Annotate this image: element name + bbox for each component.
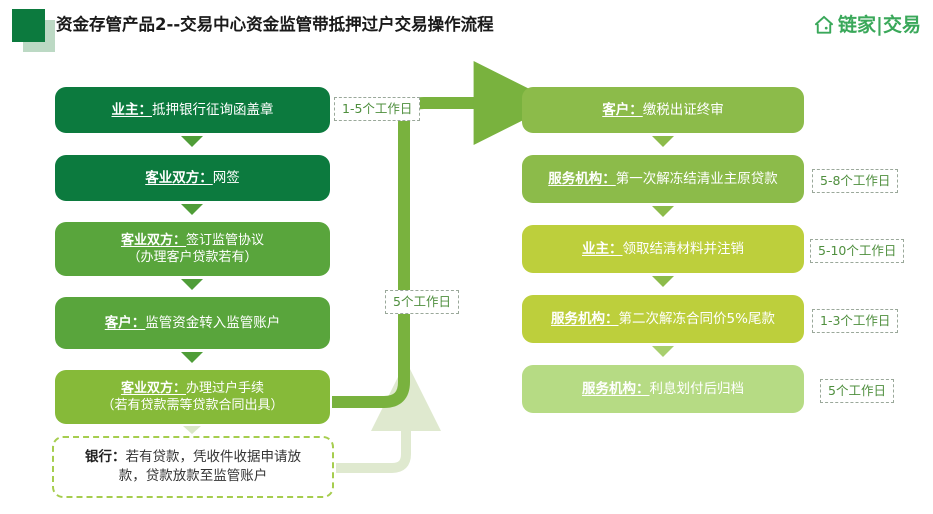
node-right-4-role: 服务机构：: [551, 311, 619, 327]
note-box-desc: 若有贷款，凭收件收据申请放: [126, 449, 302, 465]
note-box-bank[interactable]: 银行：若有贷款，凭收件收据申请放 款，贷款放款至监管账户: [52, 436, 334, 498]
node-right-2-line1: 服务机构：第一次解冻结清业主原贷款: [548, 171, 778, 188]
ghost-return-arrow: [336, 406, 406, 468]
node-left-4-role: 客户：: [105, 315, 146, 331]
brand-logo: 链家|交易: [813, 12, 921, 38]
node-right-1-desc: 缴税出证终审: [643, 102, 724, 118]
node-left-3-desc: 签订监管协议: [186, 233, 264, 248]
arrow-right-4-to-5: [652, 346, 674, 357]
house-icon: [813, 14, 835, 36]
arrow-left-3-to-4: [181, 279, 203, 290]
node-right-3-desc: 领取结清材料并注销: [623, 241, 745, 257]
node-right-5-role: 服务机构：: [582, 381, 650, 397]
node-right-4[interactable]: 服务机构：第二次解冻合同价5%尾款: [522, 295, 804, 343]
duration-tag-6: 5个工作日: [820, 379, 894, 403]
node-right-4-desc: 第二次解冻合同价5%尾款: [619, 311, 775, 327]
note-box-role: 银行：: [85, 449, 126, 465]
node-left-1[interactable]: 业主：抵押银行征询函盖章: [55, 87, 330, 133]
node-left-1-desc: 抵押银行征询函盖章: [152, 102, 274, 118]
node-right-5-desc: 利息划付后归档: [650, 381, 745, 397]
node-right-5[interactable]: 服务机构：利息划付后归档: [522, 365, 804, 413]
node-left-3-line2: （办理客户贷款若有）: [127, 249, 257, 266]
arrow-left-5-to-note: [183, 426, 201, 434]
node-left-5-role: 客业双方：: [121, 381, 186, 396]
node-right-2-desc: 第一次解冻结清业主原贷款: [616, 171, 778, 187]
node-left-2-line1: 客业双方：网签: [145, 170, 240, 187]
node-left-2[interactable]: 客业双方：网签: [55, 155, 330, 201]
arrow-left-1-to-2: [181, 136, 203, 147]
left-to-right-connector: [332, 103, 500, 402]
arrow-right-2-to-3: [652, 206, 674, 217]
arrow-right-3-to-4: [652, 276, 674, 287]
node-left-1-line1: 业主：抵押银行征询函盖章: [112, 102, 274, 119]
note-box-line1: 银行：若有贷款，凭收件收据申请放: [85, 448, 301, 467]
arrow-right-1-to-2: [652, 136, 674, 147]
duration-tag-4: 5-10个工作日: [810, 239, 904, 263]
page-title: 资金存管产品2--交易中心资金监管带抵押过户交易操作流程: [56, 13, 494, 37]
header-decor-square-front: [12, 9, 45, 42]
flowchart-canvas: 业主：抵押银行征询函盖章 客业双方：网签 客业双方：签订监管协议 （办理客户贷款…: [0, 57, 933, 514]
node-left-5[interactable]: 客业双方：办理过户手续 （若有贷款需等贷款合同出具）: [55, 370, 330, 424]
node-right-1[interactable]: 客户：缴税出证终审: [522, 87, 804, 133]
arrow-left-4-to-5: [181, 352, 203, 363]
node-left-5-line2: （若有贷款需等贷款合同出具）: [101, 397, 283, 414]
node-right-2[interactable]: 服务机构：第一次解冻结清业主原贷款: [522, 155, 804, 203]
node-left-2-role: 客业双方：: [145, 170, 213, 186]
node-left-4[interactable]: 客户：监管资金转入监管账户: [55, 297, 330, 349]
node-left-2-desc: 网签: [213, 170, 240, 186]
page-header: 资金存管产品2--交易中心资金监管带抵押过户交易操作流程 链家|交易: [0, 0, 933, 57]
node-left-3-line1: 客业双方：签订监管协议: [121, 232, 264, 249]
node-right-3-line1: 业主：领取结清材料并注销: [582, 241, 744, 258]
note-box-line2: 款，贷款放款至监管账户: [119, 467, 268, 486]
node-right-2-role: 服务机构：: [548, 171, 616, 187]
node-left-5-line1: 客业双方：办理过户手续: [121, 380, 264, 397]
node-right-5-line1: 服务机构：利息划付后归档: [582, 381, 744, 398]
node-left-1-role: 业主：: [112, 102, 153, 118]
brand-logo-text: 链家|交易: [838, 14, 921, 36]
node-right-3[interactable]: 业主：领取结清材料并注销: [522, 225, 804, 273]
node-left-4-line1: 客户：监管资金转入监管账户: [105, 315, 281, 332]
node-left-5-desc: 办理过户手续: [186, 381, 264, 396]
node-right-3-role: 业主：: [582, 241, 623, 257]
duration-tag-5: 1-3个工作日: [812, 309, 898, 333]
arrow-left-2-to-3: [181, 204, 203, 215]
node-right-1-role: 客户：: [602, 102, 643, 118]
node-left-3[interactable]: 客业双方：签订监管协议 （办理客户贷款若有）: [55, 222, 330, 276]
duration-tag-3: 5-8个工作日: [812, 169, 898, 193]
node-right-4-line1: 服务机构：第二次解冻合同价5%尾款: [551, 311, 775, 328]
node-left-3-role: 客业双方：: [121, 233, 186, 248]
node-right-1-line1: 客户：缴税出证终审: [602, 102, 724, 119]
duration-tag-2: 5个工作日: [385, 290, 459, 314]
duration-tag-1: 1-5个工作日: [334, 97, 420, 121]
node-left-4-desc: 监管资金转入监管账户: [145, 315, 280, 331]
